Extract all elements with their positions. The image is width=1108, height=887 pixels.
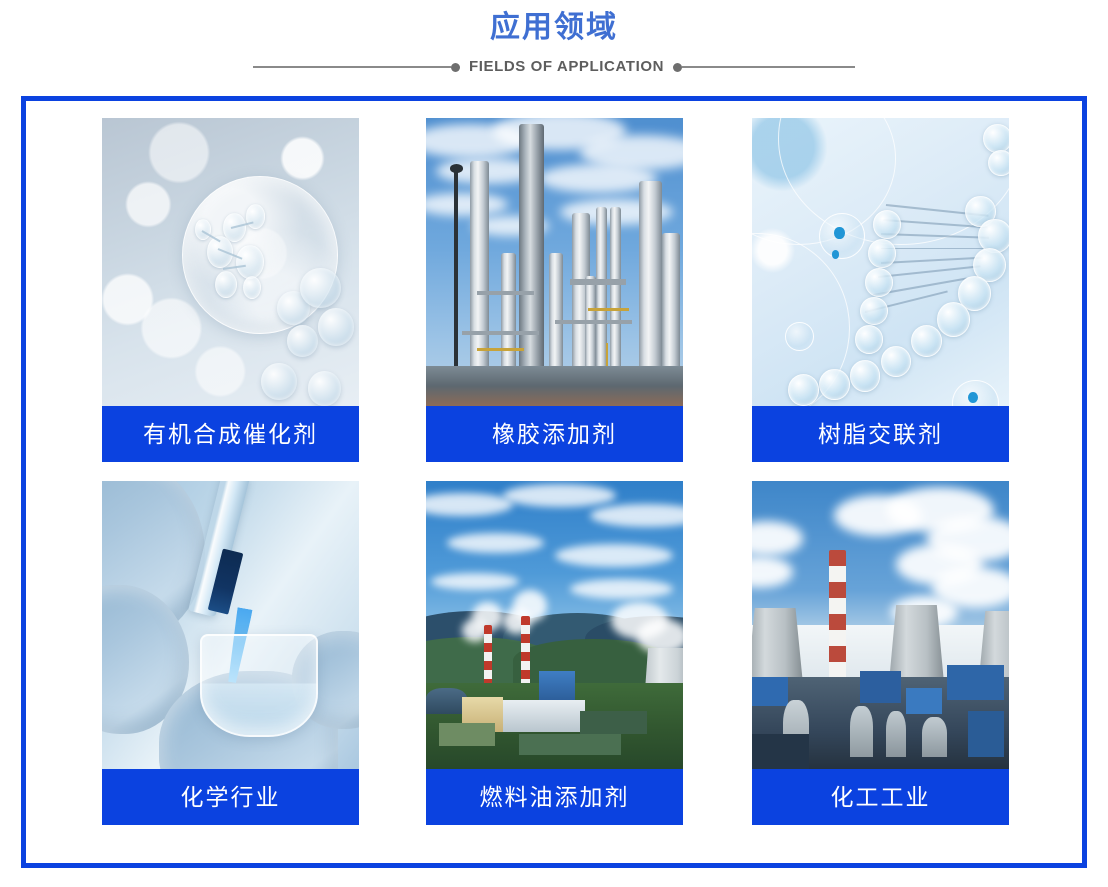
field-card-image [102, 118, 359, 406]
field-card-label: 有机合成催化剂 [102, 406, 359, 462]
field-card-image [752, 118, 1009, 406]
content-frame: 有机合成催化剂 [21, 96, 1087, 868]
field-card-chemical-industry[interactable]: 化学行业 [102, 481, 359, 825]
field-card-image [102, 481, 359, 769]
field-card-label: 树脂交联剂 [752, 406, 1009, 462]
field-card-label: 化学行业 [102, 769, 359, 825]
field-card-image [426, 118, 683, 406]
field-card-label: 化工工业 [752, 769, 1009, 825]
page-title: 应用领域 [0, 10, 1108, 46]
bullet-dot-right-icon [673, 63, 682, 72]
field-card-resin-crosslinker[interactable]: 树脂交联剂 [752, 118, 1009, 462]
fields-grid: 有机合成催化剂 [26, 101, 1082, 863]
bullet-dot-left-icon [451, 63, 460, 72]
field-card-label: 燃料油添加剂 [426, 769, 683, 825]
subtitle-english: FIELDS OF APPLICATION [460, 58, 673, 76]
field-card-fuel-oil-additive[interactable]: 燃料油添加剂 [426, 481, 683, 825]
rule-left [253, 66, 451, 68]
field-card-label: 橡胶添加剂 [426, 406, 683, 462]
field-card-image [752, 481, 1009, 769]
field-card-organic-synthesis-catalyst[interactable]: 有机合成催化剂 [102, 118, 359, 462]
field-card-chemical-engineering-industry[interactable]: 化工工业 [752, 481, 1009, 825]
field-card-image [426, 481, 683, 769]
rule-right [682, 66, 855, 68]
field-card-rubber-additive[interactable]: 橡胶添加剂 [426, 118, 683, 462]
section-header: 应用领域 FIELDS OF APPLICATION [0, 0, 1108, 96]
subtitle-row: FIELDS OF APPLICATION [0, 55, 1108, 79]
